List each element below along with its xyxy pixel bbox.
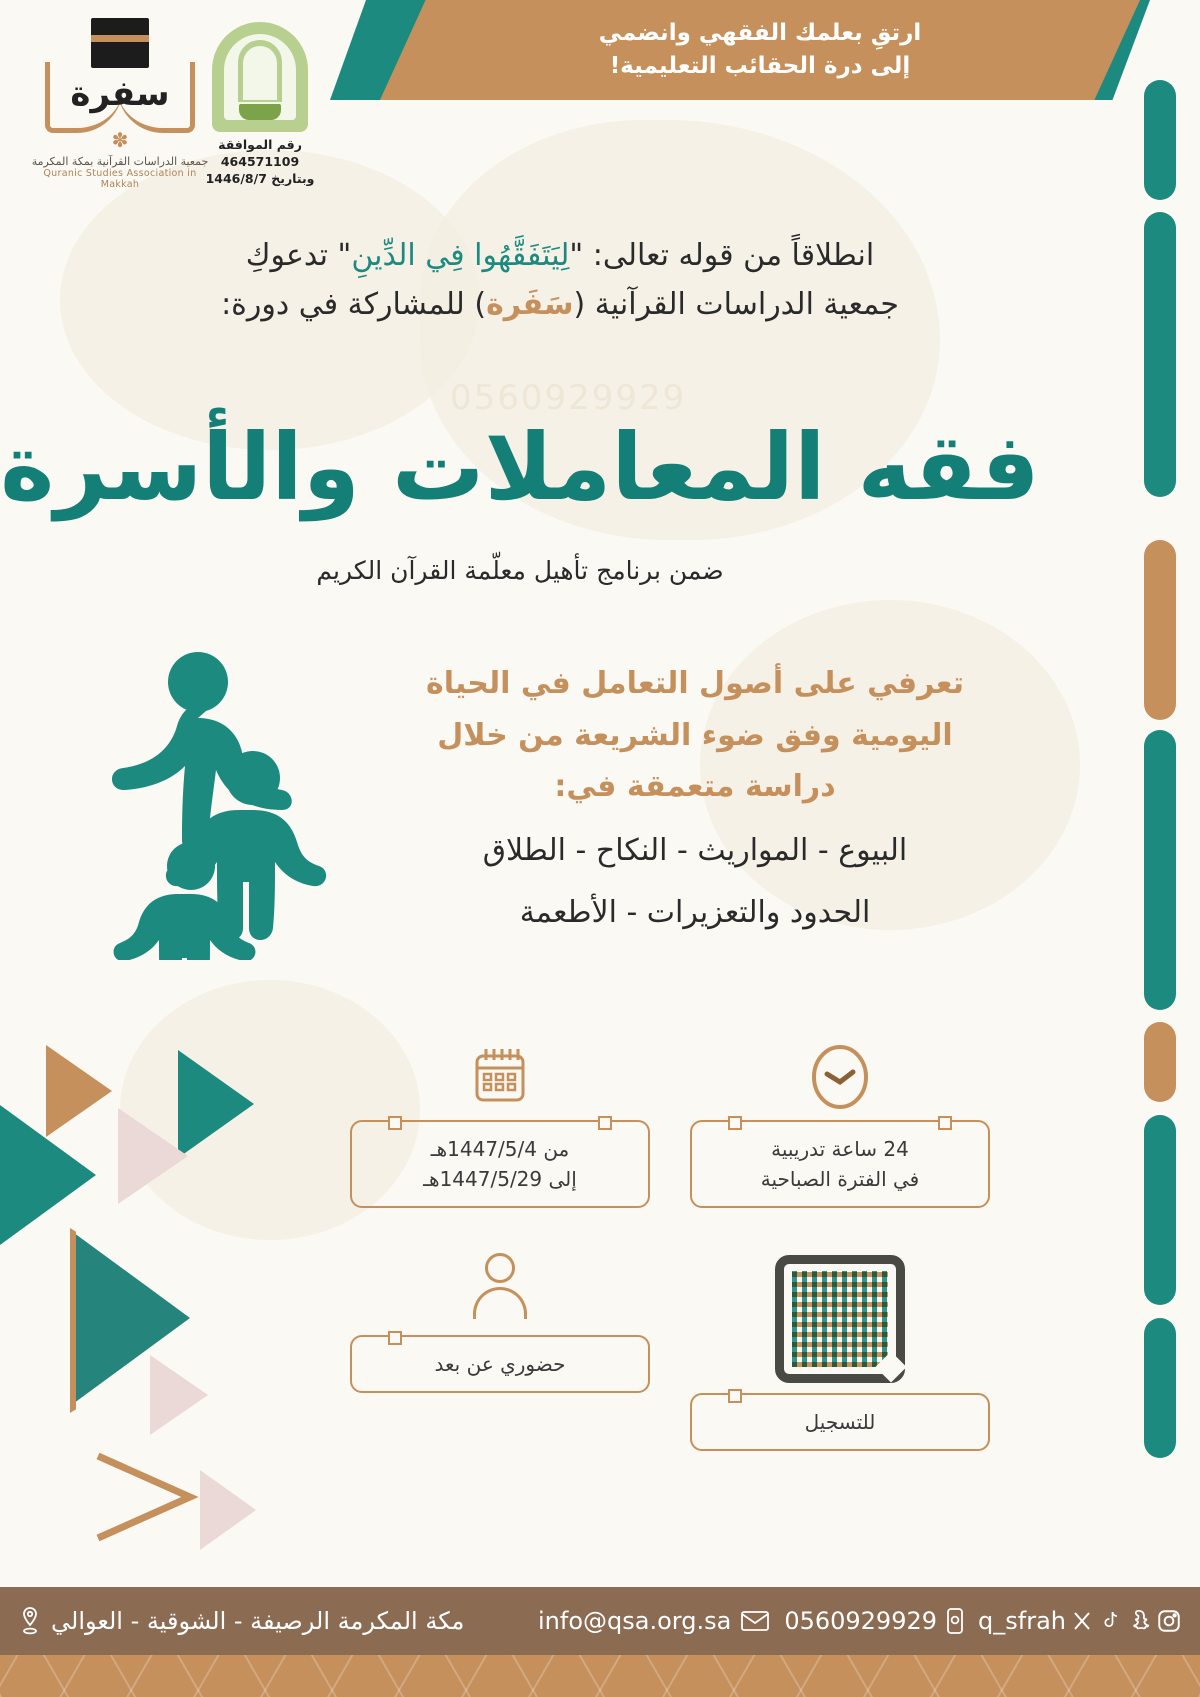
duration-card: 24 ساعة تدريبية في الفترة الصباحية — [690, 1040, 990, 1208]
location-pin-icon — [18, 1606, 42, 1636]
description-line-3: دراسة متعمقة في: — [360, 761, 1030, 813]
duration-line-2: في الفترة الصباحية — [706, 1164, 974, 1194]
intro-line2-a: جمعية الدراسات القرآنية ( — [574, 287, 899, 322]
watermark-text: 0560929929 — [450, 378, 686, 418]
header-banner: ارتقِ بعلمك الفقهي وانضمي إلى درة الحقائ… — [380, 0, 1140, 100]
course-title: فقه المعاملات والأسرة — [0, 420, 1040, 517]
phone-segment[interactable]: 0560929929 — [784, 1607, 964, 1635]
quran-verse: لِيَتَفَقَّهُوا فِي الدِّينِ — [351, 238, 569, 273]
clock-icon — [690, 1040, 990, 1110]
approval-label: رقم الموافقة — [200, 137, 320, 154]
register-label[interactable]: للتسجيل — [706, 1407, 974, 1437]
calendar-icon — [350, 1040, 650, 1110]
course-title-block: فقه المعاملات والأسرة — [0, 420, 1040, 517]
description-line-1: تعرفي على أصول التعامل في الحياة — [360, 658, 1030, 710]
association-name-ar: جمعية الدراسات القرآنية بمكة المكرمة — [30, 155, 210, 168]
info-row: 24 ساعة تدريبية في الفترة الصباحية — [330, 1040, 1010, 1208]
address-segment: مكة المكرمة الرصيفة - الشوقية - العوالي — [18, 1606, 464, 1636]
decorative-triangle — [200, 1470, 256, 1550]
description-line-2: اليومية وفق ضوء الشريعة من خلال — [360, 710, 1030, 762]
qr-code-icon[interactable] — [775, 1255, 905, 1383]
instagram-icon[interactable] — [1156, 1608, 1182, 1634]
dates-card: من 1447/5/4هـ إلى 1447/5/29هـ — [350, 1040, 650, 1208]
mode-label: حضوري عن بعد — [366, 1349, 634, 1379]
description-block: تعرفي على أصول التعامل في الحياة اليومية… — [360, 658, 1030, 938]
approval-number: 464571109 — [200, 154, 320, 171]
mode-card: حضوري عن بعد — [350, 1255, 650, 1451]
open-book-icon: سفرة — [45, 62, 195, 134]
course-subtitle: ضمن برنامج تأهيل معلّمة القرآن الكريم — [0, 556, 1040, 585]
brand-name: سَفَرة — [486, 287, 573, 322]
decorative-bar — [1144, 212, 1176, 497]
dates-line-1: من 1447/5/4هـ — [366, 1134, 634, 1164]
phone-number[interactable]: 0560929929 — [784, 1607, 937, 1635]
dates-box: من 1447/5/4هـ إلى 1447/5/29هـ — [350, 1120, 650, 1208]
decorative-bar — [1144, 1022, 1176, 1102]
kaaba-icon — [91, 18, 149, 68]
phone-icon[interactable] — [946, 1607, 964, 1635]
snapchat-icon[interactable] — [1126, 1608, 1152, 1634]
logo-wordmark: سفرة — [45, 74, 195, 114]
register-box[interactable]: للتسجيل — [690, 1393, 990, 1451]
decorative-bar — [1144, 1318, 1176, 1458]
intro-paragraph: انطلاقاً من قوله تعالى: "لِيَتَفَقَّهُوا… — [90, 232, 1030, 329]
decorative-bar — [1144, 540, 1176, 720]
intro-line2-b: ) للمشاركة في دورة: — [221, 287, 486, 322]
decorative-chevron — [92, 1452, 202, 1542]
social-icons-group[interactable]: q_sfrah — [978, 1607, 1182, 1635]
sfrah-logo: سفرة ✽ جمعية الدراسات القرآنية بمكة المك… — [30, 18, 210, 190]
decorative-bar — [1144, 1115, 1176, 1305]
ministry-logo: رقم الموافقة 464571109 وبتاريخ 1446/8/7 — [200, 22, 320, 188]
footer-pattern-strip — [0, 1655, 1200, 1697]
email-icon[interactable] — [740, 1609, 770, 1633]
register-card[interactable]: للتسجيل — [690, 1255, 990, 1451]
decorative-triangle — [0, 1105, 96, 1245]
social-handle[interactable]: q_sfrah — [978, 1607, 1066, 1635]
intro-part-1: انطلاقاً من قوله تعالى: " — [569, 238, 874, 273]
decorative-triangle — [150, 1355, 208, 1435]
duration-box: 24 ساعة تدريبية في الفترة الصباحية — [690, 1120, 990, 1208]
family-illustration-icon — [55, 630, 385, 960]
topics-line-1: البيوع - المواريث - النكاح - الطلاق — [360, 827, 1030, 876]
dates-line-2: إلى 1447/5/29هـ — [366, 1164, 634, 1194]
ministry-badge-icon — [212, 22, 308, 132]
intro-part-2: " تدعوكِ — [246, 238, 352, 273]
duration-line-1: 24 ساعة تدريبية — [706, 1134, 974, 1164]
decorative-triangle — [178, 1050, 254, 1158]
footer-contact-bar: q_sfrah 0560929929 info@qsa.org.sa مكة ا… — [0, 1587, 1200, 1655]
banner-line-1: ارتقِ بعلمك الفقهي وانضمي — [599, 17, 922, 50]
decorative-bar — [1144, 730, 1176, 1010]
email-address[interactable]: info@qsa.org.sa — [538, 1607, 731, 1635]
approval-date: وبتاريخ 1446/8/7 — [200, 171, 320, 188]
address-text: مكة المكرمة الرصيفة - الشوقية - العوالي — [51, 1607, 464, 1635]
banner-line-2: إلى درة الحقائب التعليمية! — [610, 50, 911, 83]
decorative-bar — [1144, 80, 1176, 200]
mode-box: حضوري عن بعد — [350, 1335, 650, 1393]
x-icon[interactable] — [1070, 1609, 1094, 1633]
association-name-en: Quranic Studies Association in Makkah — [30, 168, 210, 190]
tiktok-icon[interactable] — [1098, 1608, 1122, 1634]
person-icon — [350, 1255, 650, 1325]
poster-canvas: 0560929929 ارتقِ بعلمك الفقهي وانضمي إلى… — [0, 0, 1200, 1697]
email-segment[interactable]: info@qsa.org.sa — [538, 1607, 770, 1635]
register-row: للتسجيل حضوري عن بعد — [330, 1255, 1010, 1451]
decorative-triangle — [118, 1108, 188, 1204]
topics-line-2: الحدود والتعزيرات - الأطعمة — [360, 889, 1030, 938]
